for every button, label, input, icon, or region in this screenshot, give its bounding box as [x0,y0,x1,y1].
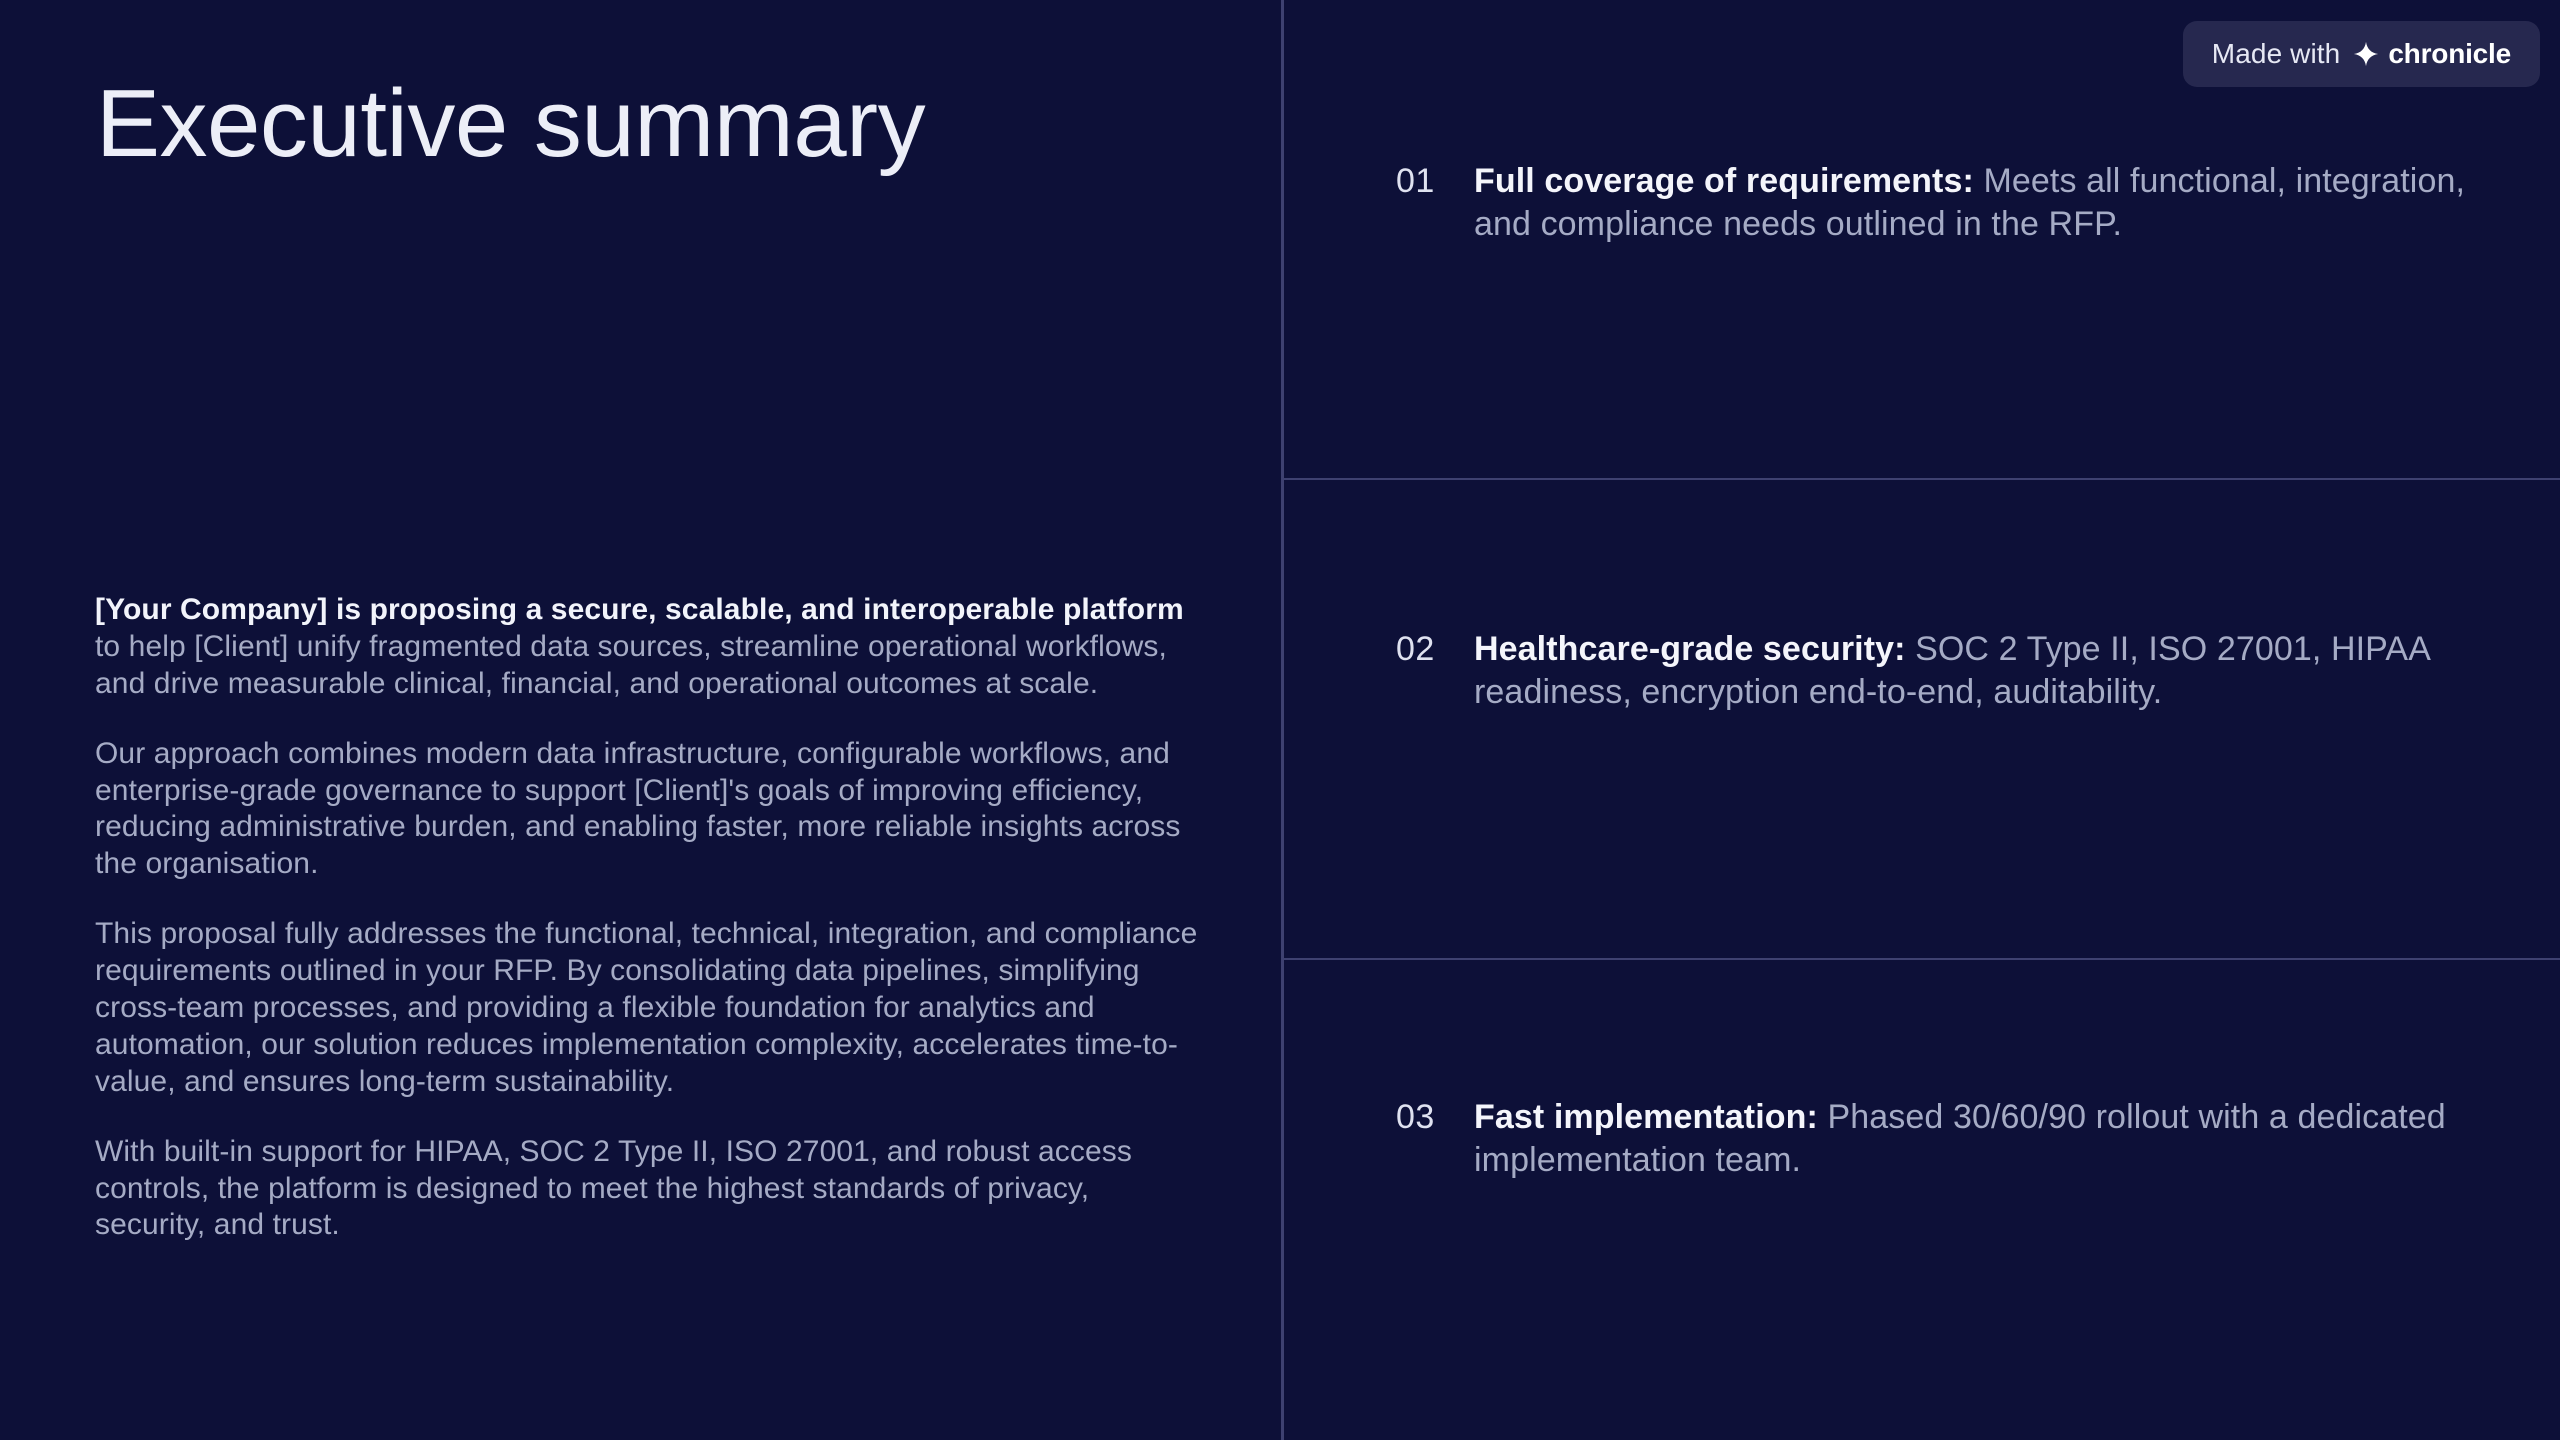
key-point-number: 02 [1396,628,1474,671]
key-point-item: 03 Fast implementation: Phased 30/60/90 … [1284,1096,2560,1182]
key-point-number: 03 [1396,1096,1474,1139]
badge-prefix-label: Made with [2212,38,2341,70]
key-point-title: Fast implementation: [1474,1098,1818,1136]
slide: Executive summary [Your Company] is prop… [0,0,2560,1440]
made-with-chronicle-badge[interactable]: Made with chronicle [2183,21,2540,87]
key-point-item: 02 Healthcare-grade security: SOC 2 Type… [1284,628,2560,714]
key-point-item: 01 Full coverage of requirements: Meets … [1284,160,2560,246]
summary-paragraph: With built-in support for HIPAA, SOC 2 T… [95,1134,1205,1245]
key-point-title: Healthcare-grade security: [1474,630,1906,668]
summary-paragraph: This proposal fully addresses the functi… [95,916,1205,1100]
paragraph-rest: This proposal fully addresses the functi… [95,917,1197,1098]
summary-paragraph: Our approach combines modern data infras… [95,736,1205,884]
paragraph-rest: to help [Client] unify fragmented data s… [95,630,1167,700]
key-point-divider [1284,958,2560,960]
badge-brand-label: chronicle [2388,38,2511,70]
sparkle-icon [2353,41,2379,67]
key-point-divider [1284,478,2560,480]
key-point-text: Healthcare-grade security: SOC 2 Type II… [1474,628,2468,714]
paragraph-lead: [Your Company] is proposing a secure, sc… [95,593,1184,626]
left-column: Executive summary [Your Company] is prop… [0,0,1281,1440]
summary-body: [Your Company] is proposing a secure, sc… [95,592,1205,1244]
key-point-text: Fast implementation: Phased 30/60/90 rol… [1474,1096,2468,1182]
paragraph-rest: With built-in support for HIPAA, SOC 2 T… [95,1135,1132,1242]
key-point-number: 01 [1396,160,1474,203]
page-title: Executive summary [96,72,925,176]
summary-paragraph: [Your Company] is proposing a secure, sc… [95,592,1205,703]
paragraph-rest: Our approach combines modern data infras… [95,737,1180,881]
right-column: 01 Full coverage of requirements: Meets … [1284,0,2560,1440]
key-point-text: Full coverage of requirements: Meets all… [1474,160,2468,246]
key-point-title: Full coverage of requirements: [1474,162,1974,200]
